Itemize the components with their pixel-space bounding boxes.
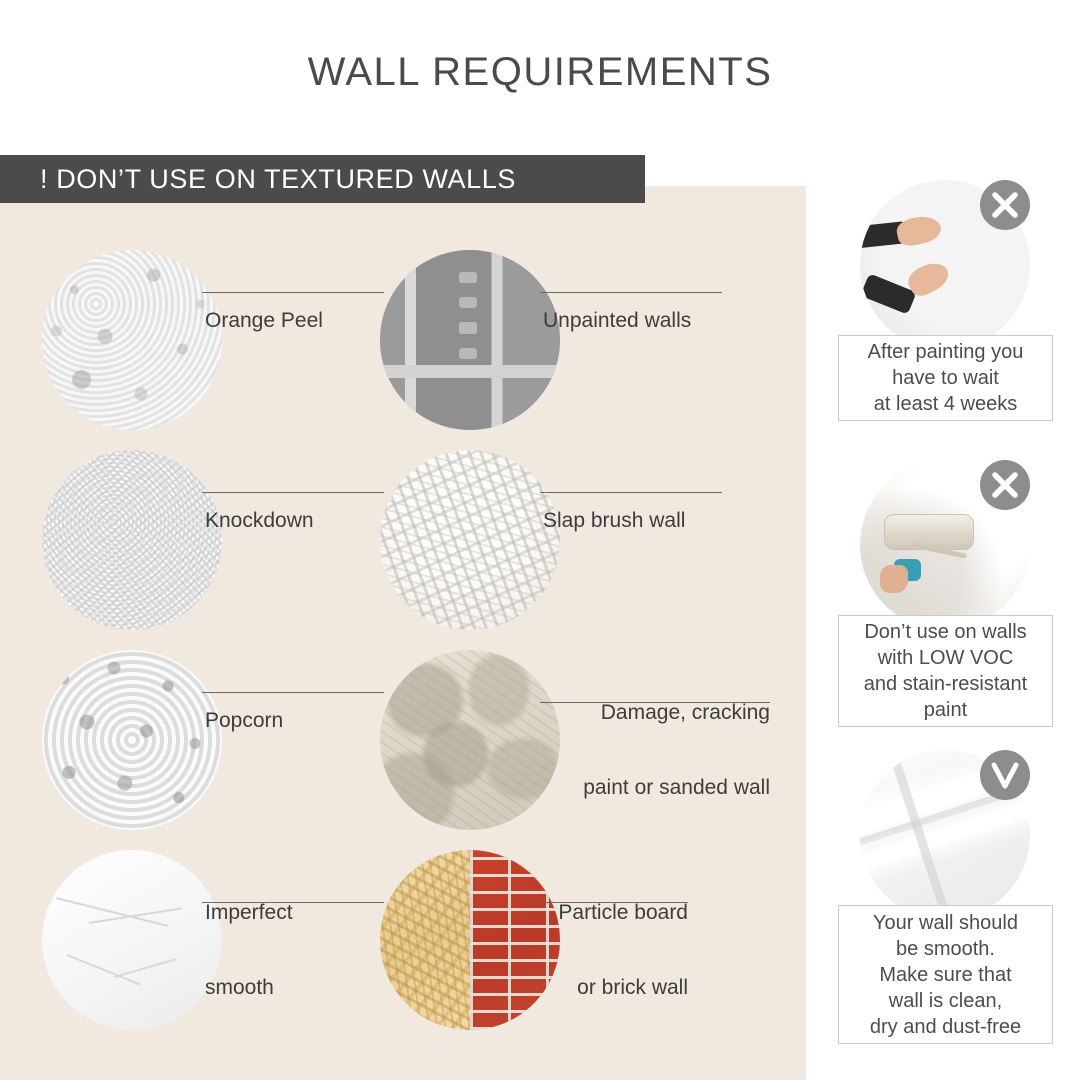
swatch-popcorn: Popcorn [42,650,382,840]
swatch-label-knockdown: Knockdown [205,458,314,583]
card-text-box: Your wall should be smooth. Make sure th… [838,905,1053,1044]
swatch-label-underline [540,902,688,903]
swatch-knockdown: Knockdown [42,450,382,640]
imperfect-smooth-texture-disc [42,850,222,1030]
card-text-box: After painting you have to wait at least… [838,335,1053,421]
card-caption: Your wall should be smooth. Make sure th… [870,910,1021,1040]
swatch-particle-board: Particle board or brick wall [380,850,780,1040]
drywall-screw-marks [459,264,477,390]
swatch-label-underline [202,902,384,903]
orange-peel-texture-disc [42,250,222,430]
osb-brick-texture-disc [380,850,560,1030]
swatch-label-popcorn: Popcorn [205,658,283,783]
knockdown-texture [42,450,222,630]
warning-banner-label: ! DON’T USE ON TEXTURED WALLS [0,164,516,195]
unpainted-drywall-texture [380,250,560,430]
swatch-label-particle-board: Particle board or brick wall [543,850,688,1050]
swatch-label-damage-cracking: Damage, cracking paint or sanded wall [543,650,770,850]
damaged-paint-texture [380,650,560,830]
card-text-box: Don’t use on walls with LOW VOC and stai… [838,615,1053,727]
swatch-label-orange-peel: Orange Peel [205,258,323,383]
swatch-slap-brush-wall: Slap brush wall [380,450,720,640]
swatch-damage-cracking: Damage, cracking paint or sanded wall [380,650,780,840]
popcorn-texture [42,650,222,830]
page-title: WALL REQUIREMENTS [0,50,1080,95]
swatch-label-underline [202,292,384,293]
swatch-unpainted-walls: Unpainted walls [380,250,720,440]
slap-brush-texture [380,450,560,630]
unpainted-drywall-texture-disc [380,250,560,430]
osb-brick-texture [380,850,560,1030]
x-icon [980,180,1030,230]
orange-peel-texture [42,250,222,430]
popcorn-texture-disc [42,650,222,830]
swatch-label-imperfect-smooth: Imperfect smooth [205,850,293,1050]
damaged-paint-texture-disc [380,650,560,830]
swatch-label-underline [202,492,384,493]
knockdown-texture-disc [42,450,222,630]
card-caption: Don’t use on walls with LOW VOC and stai… [864,619,1027,723]
card-low-voc-paint: Don’t use on walls with LOW VOC and stai… [838,460,1053,725]
osb-board-half [380,850,470,1030]
check-icon [980,750,1030,800]
swatch-label-underline [540,492,722,493]
swatch-label-unpainted-walls: Unpainted walls [543,258,691,383]
swatch-orange-peel: Orange Peel [42,250,382,440]
slap-brush-texture-disc [380,450,560,630]
hand-holding-roller [880,565,907,592]
card-wait-4-weeks: After painting you have to wait at least… [838,180,1053,420]
swatch-label-underline [202,692,384,693]
swatch-label-underline [540,702,770,703]
swatch-imperfect-smooth: Imperfect smooth [42,850,382,1040]
warning-banner: ! DON’T USE ON TEXTURED WALLS [0,155,645,203]
card-caption: After painting you have to wait at least… [868,339,1024,417]
swatch-label-slap-brush-wall: Slap brush wall [543,458,685,583]
imperfect-smooth-texture [42,850,222,1030]
card-smooth-clean-wall: Your wall should be smooth. Make sure th… [838,750,1053,1042]
swatch-label-underline [540,292,722,293]
infographic-canvas: WALL REQUIREMENTS ! DON’T USE ON TEXTURE… [0,0,1080,1080]
x-icon [980,460,1030,510]
